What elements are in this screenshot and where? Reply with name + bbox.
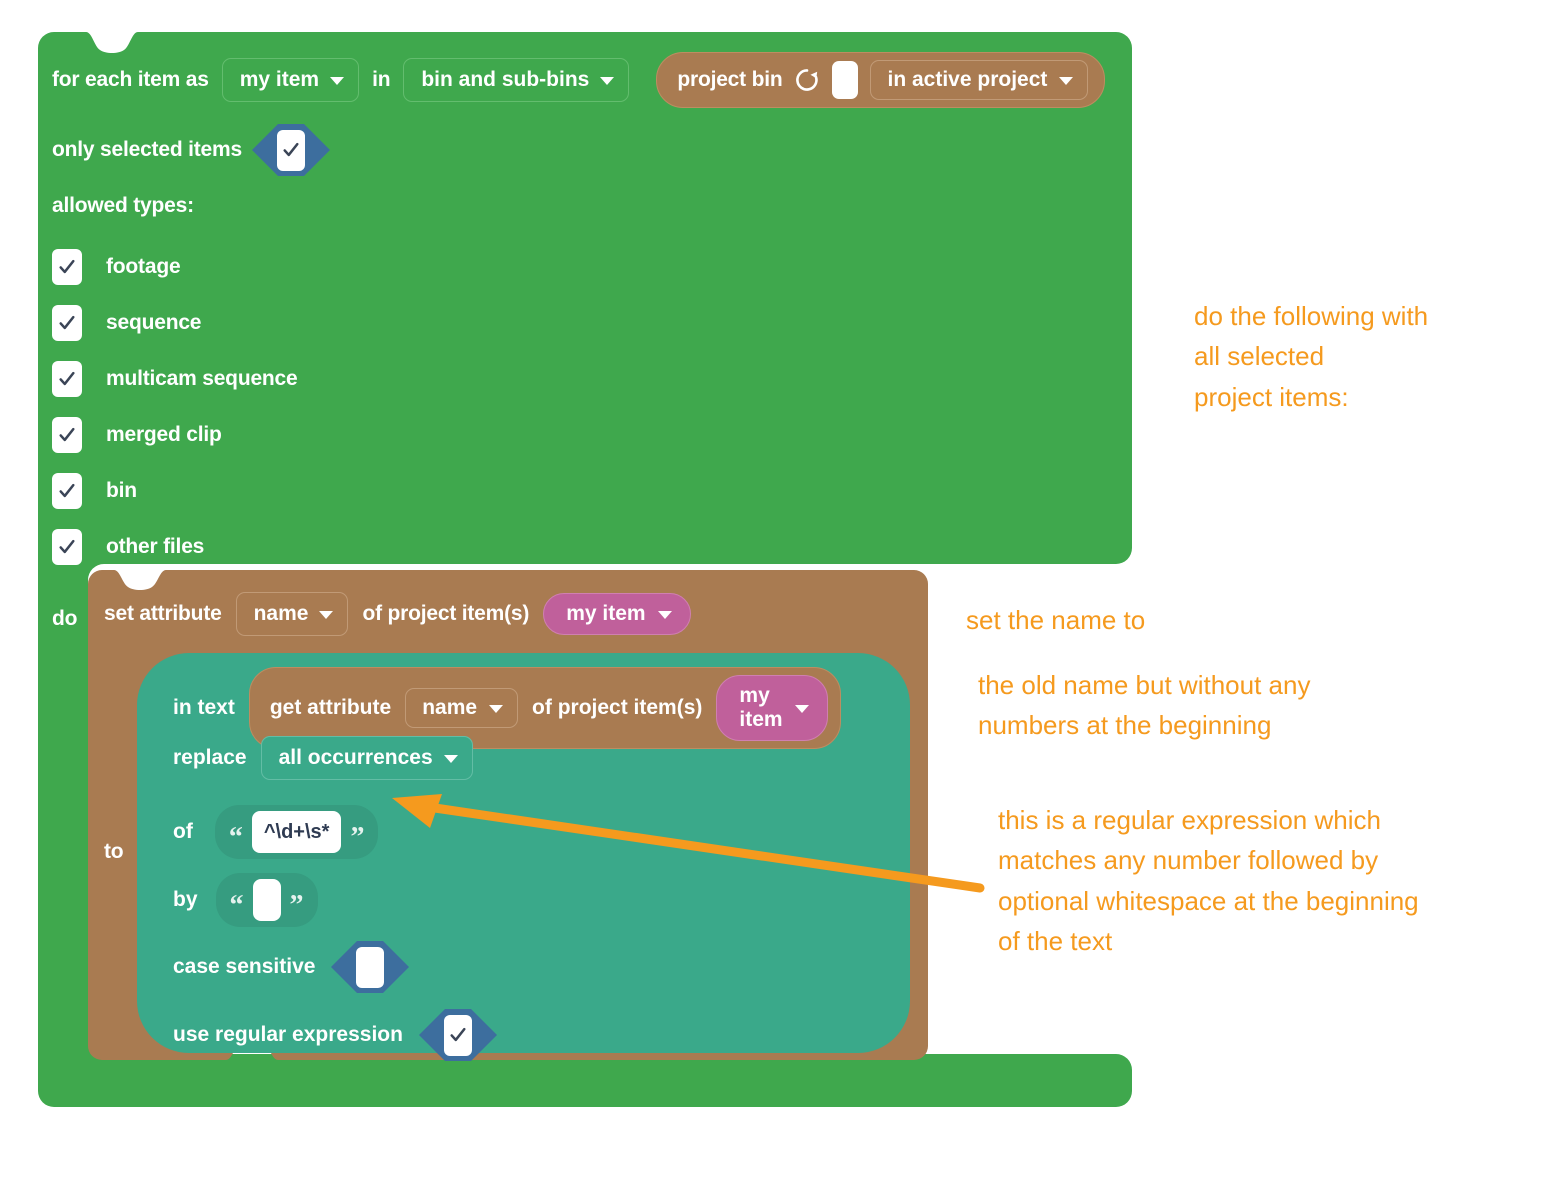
chevron-down-icon	[489, 705, 503, 713]
scope-dropdown-value: bin and sub-bins	[421, 68, 589, 92]
checkbox-other-files[interactable]	[52, 529, 82, 565]
allowed-type-label: merged clip	[106, 423, 222, 447]
foreach-row: for each item as my item in bin and sub-…	[52, 52, 1105, 108]
chevron-down-icon	[1059, 77, 1073, 85]
label-only-selected-items: only selected items	[52, 138, 242, 162]
allowed-type-row-other-files[interactable]: other files	[52, 519, 298, 575]
label-for-each-item-as: for each item as	[52, 68, 209, 92]
label-by: by	[173, 888, 198, 912]
checkbox-box[interactable]	[277, 130, 305, 171]
allowed-types-label: allowed types:	[52, 194, 194, 218]
check-icon	[58, 370, 76, 388]
quote-close-icon: ”	[290, 898, 304, 915]
checkbox-sequence[interactable]	[52, 305, 82, 341]
item-variable-value: my item	[566, 602, 645, 626]
label-case-sensitive: case sensitive	[173, 955, 315, 979]
checkbox-merged-clip[interactable]	[52, 417, 82, 453]
project-location-value: in active project	[887, 68, 1047, 92]
annotation-set-name: set the name to	[966, 600, 1145, 640]
replace-row: replace all occurrences	[173, 736, 473, 780]
check-icon	[449, 1026, 467, 1044]
check-icon	[58, 426, 76, 444]
label-of-project-items: of project item(s)	[362, 602, 529, 626]
chevron-down-icon	[444, 755, 458, 763]
allowed-type-row-sequence[interactable]: sequence	[52, 295, 298, 351]
annotation-regex: this is a regular expression which match…	[998, 800, 1419, 961]
check-icon	[58, 482, 76, 500]
allowed-types-list: footage sequence multicam sequence merge…	[52, 239, 298, 575]
label-of-project-items: of project item(s)	[532, 696, 702, 720]
label-of: of	[173, 820, 193, 844]
search-string-input[interactable]: ^\d+\s*	[252, 811, 342, 853]
quote-close-icon: ”	[350, 830, 364, 847]
allowed-type-label: other files	[106, 535, 204, 559]
allowed-type-row-multicam-sequence[interactable]: multicam sequence	[52, 351, 298, 407]
label-get-attribute: get attribute	[270, 696, 391, 720]
replacement-string-field[interactable]: “ ”	[216, 873, 318, 927]
label-replace: replace	[173, 746, 247, 770]
search-string-field[interactable]: “ ^\d+\s* ”	[215, 805, 379, 859]
checkbox-footage[interactable]	[52, 249, 82, 285]
allowed-type-row-merged-clip[interactable]: merged clip	[52, 407, 298, 463]
to-label: to	[104, 840, 123, 864]
use-regular-expression-checkbox[interactable]	[419, 1009, 497, 1061]
check-icon	[58, 258, 76, 276]
annotation-old-name: the old name but without any numbers at …	[978, 665, 1310, 746]
by-row: by “ ”	[173, 873, 318, 927]
get-attribute-value: name	[422, 696, 477, 720]
allowed-type-label: multicam sequence	[106, 367, 298, 391]
case-sensitive-row: case sensitive	[173, 941, 409, 993]
checkbox-bin[interactable]	[52, 473, 82, 509]
chevron-down-icon	[795, 705, 809, 713]
set-attribute-row: set attribute name of project item(s) my…	[104, 592, 691, 636]
item-variable-value: my item	[739, 684, 782, 732]
project-bin-input[interactable]	[832, 61, 858, 99]
project-location-dropdown[interactable]: in active project	[870, 60, 1088, 100]
item-variable-reporter[interactable]: my item	[543, 593, 690, 635]
scope-dropdown[interactable]: bin and sub-bins	[403, 58, 629, 102]
allowed-type-row-footage[interactable]: footage	[52, 239, 298, 295]
get-attribute-dropdown[interactable]: name	[405, 688, 518, 728]
quote-open-icon: “	[229, 830, 243, 847]
chevron-down-icon	[600, 77, 614, 85]
label-project-bin: project bin	[677, 68, 782, 92]
occurrences-dropdown[interactable]: all occurrences	[261, 736, 473, 780]
chevron-down-icon	[319, 611, 333, 619]
variable-dropdown-value: my item	[240, 68, 319, 92]
allowed-type-label: bin	[106, 479, 137, 503]
item-variable-reporter[interactable]: my item	[716, 675, 827, 741]
refresh-icon[interactable]	[794, 67, 820, 93]
checkbox-box[interactable]	[356, 947, 384, 988]
only-selected-items-row: only selected items	[52, 124, 330, 176]
checkbox-multicam-sequence[interactable]	[52, 361, 82, 397]
annotation-foreach: do the following with all selected proje…	[1194, 296, 1428, 417]
replacement-string-input[interactable]	[253, 879, 281, 921]
use-regular-expression-row: use regular expression	[173, 1009, 497, 1061]
quote-open-icon: “	[230, 898, 244, 915]
chevron-down-icon	[658, 611, 672, 619]
label-in-text: in text	[173, 696, 235, 720]
check-icon	[282, 141, 300, 159]
project-bin-reporter[interactable]: project bin in active project	[656, 52, 1105, 108]
of-row: of “ ^\d+\s* ”	[173, 805, 378, 859]
chevron-down-icon	[330, 77, 344, 85]
label-set-attribute: set attribute	[104, 602, 222, 626]
check-icon	[58, 538, 76, 556]
check-icon	[58, 314, 76, 332]
allowed-type-row-bin[interactable]: bin	[52, 463, 298, 519]
attribute-dropdown[interactable]: name	[236, 592, 349, 636]
checkbox-box[interactable]	[444, 1015, 472, 1056]
only-selected-items-checkbox[interactable]	[252, 124, 330, 176]
label-use-regular-expression: use regular expression	[173, 1023, 403, 1047]
attribute-dropdown-value: name	[254, 602, 309, 626]
allowed-type-label: sequence	[106, 311, 201, 335]
replace-in-text-block[interactable]: in text get attribute name of project it…	[137, 653, 910, 1053]
allowed-type-label: footage	[106, 255, 180, 279]
do-label: do	[52, 607, 77, 631]
label-in: in	[372, 68, 390, 92]
variable-dropdown[interactable]: my item	[222, 58, 359, 102]
case-sensitive-checkbox[interactable]	[331, 941, 409, 993]
occurrences-value: all occurrences	[279, 746, 433, 770]
